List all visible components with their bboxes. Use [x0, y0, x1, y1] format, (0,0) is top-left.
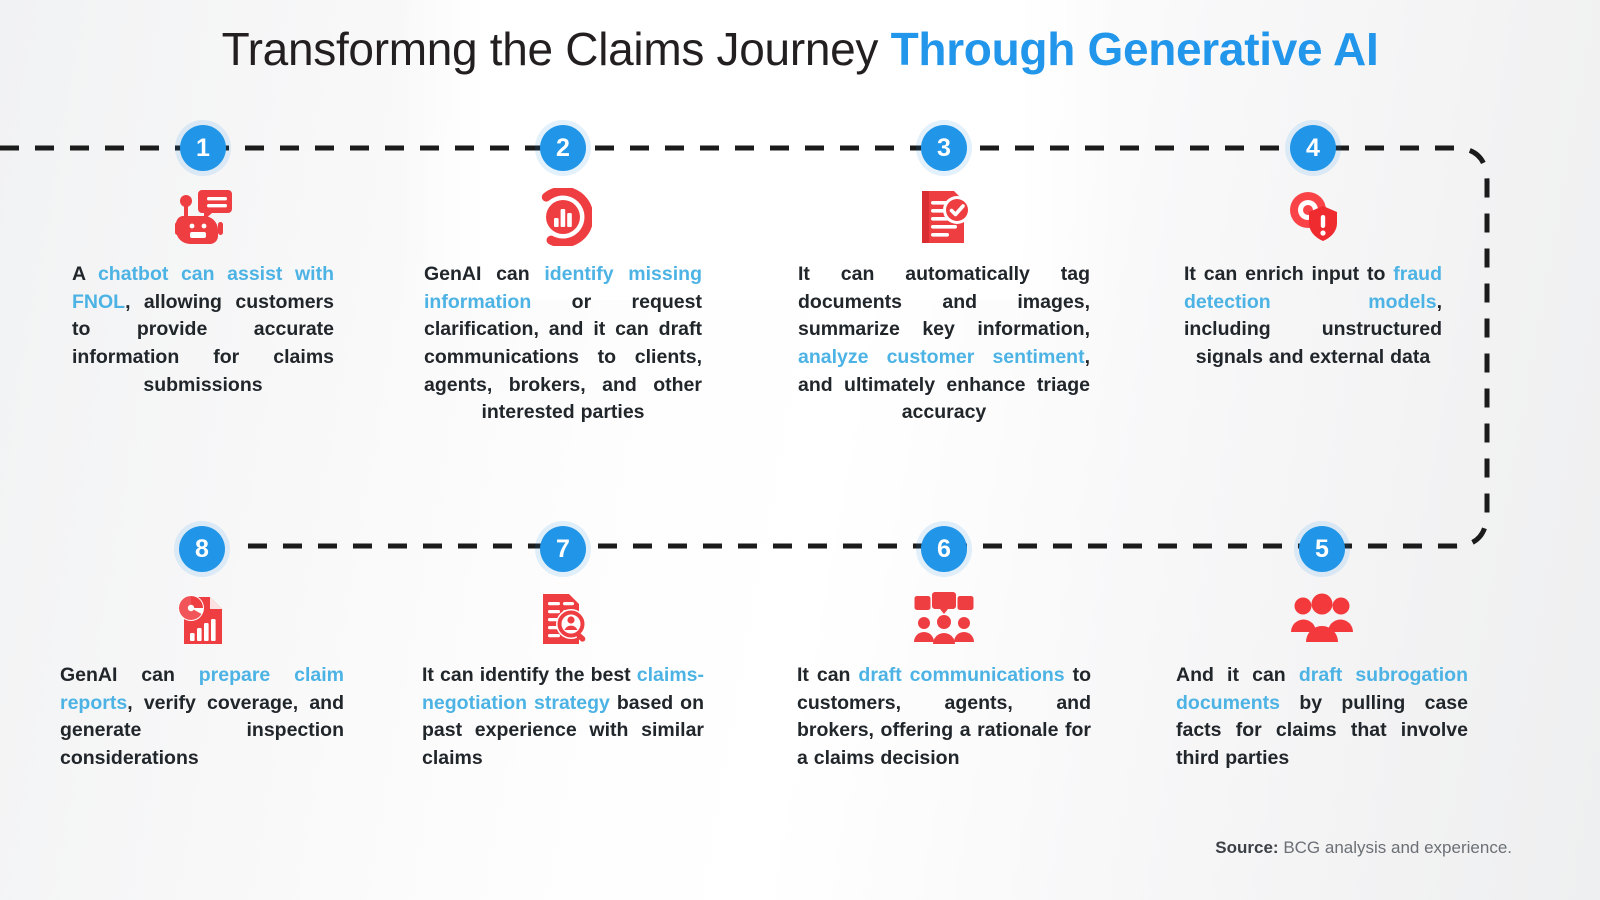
plain-text: It can enrich input to — [1184, 263, 1393, 285]
plain-text: GenAI can — [60, 664, 199, 686]
plain-text: GenAI can — [424, 263, 544, 285]
step-number-badge: 8 — [179, 526, 225, 572]
step-body: GenAI can prepare claim reports, verify … — [60, 662, 344, 773]
source-label: Source: — [1215, 838, 1278, 857]
document-check-icon — [909, 185, 979, 249]
title-primary: Transformng the Claims Journey — [222, 23, 891, 75]
step-number-badge: 2 — [540, 125, 586, 171]
team-communication-icon — [909, 586, 979, 650]
highlight-text: draft communications — [858, 664, 1064, 686]
step-number-badge: 4 — [1290, 125, 1336, 171]
chatbot-icon — [168, 185, 238, 249]
people-group-icon — [1287, 586, 1357, 650]
highlight-text: analyze customer sentiment — [798, 346, 1085, 368]
page-title: Transformng the Claims Journey Through G… — [0, 22, 1600, 76]
title-accent: Through Generative AI — [891, 23, 1379, 75]
plain-text: It can identify the best — [422, 664, 637, 686]
step-number-badge: 7 — [540, 526, 586, 572]
step-body: A chatbot can assist with FNOL, allowing… — [72, 261, 334, 399]
plain-text: It can automatically tag documents and i… — [798, 263, 1090, 340]
document-search-person-icon — [528, 586, 598, 650]
step-body: It can identify the best claims-negotiat… — [422, 662, 704, 773]
infographic-canvas: Transformng the Claims Journey Through G… — [0, 0, 1600, 900]
step-body: It can automatically tag documents and i… — [798, 261, 1090, 427]
step-body: GenAI can identify missing information o… — [424, 261, 702, 427]
step-body: And it can draft subrogation documents b… — [1176, 662, 1468, 773]
plain-text: It can — [797, 664, 858, 686]
step-number-badge: 3 — [921, 125, 967, 171]
plain-text: A — [72, 263, 98, 285]
report-chart-icon — [167, 586, 237, 650]
step-number-badge: 1 — [180, 125, 226, 171]
step-body: It can enrich input to fraud detection m… — [1184, 261, 1442, 372]
plain-text: And it can — [1176, 664, 1299, 686]
donut-chart-icon — [528, 185, 598, 249]
fraud-alert-icon — [1278, 185, 1348, 249]
source-note: Source: BCG analysis and experience. — [1215, 838, 1512, 858]
source-text: BCG analysis and experience. — [1279, 838, 1512, 857]
step-number-badge: 5 — [1299, 526, 1345, 572]
step-body: It can draft communications to customers… — [797, 662, 1091, 773]
step-number-badge: 6 — [921, 526, 967, 572]
